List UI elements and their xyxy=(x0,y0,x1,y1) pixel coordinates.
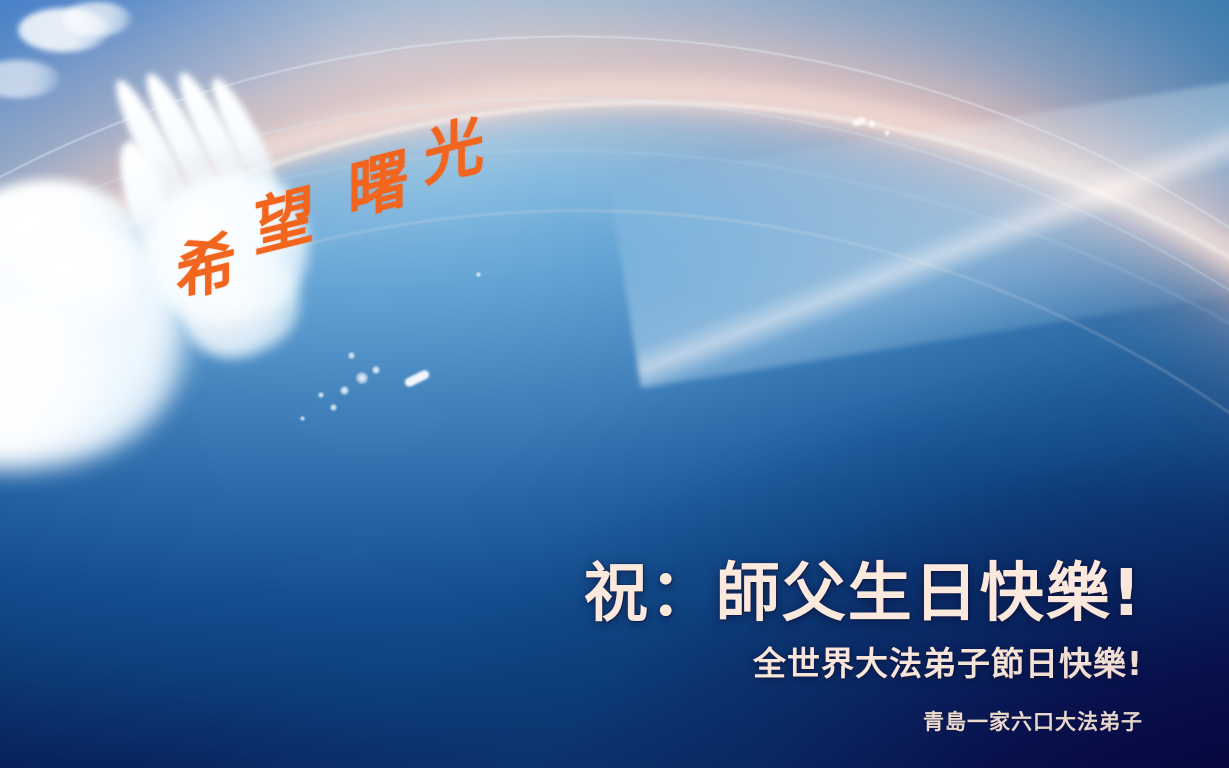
calligraphy-char-wang: 望 xyxy=(241,185,316,260)
calligraphy-char-xi: 希 xyxy=(163,231,238,306)
bokeh-7 xyxy=(300,416,305,421)
calligraphy-hope-dawn: 希 望 曙 光 xyxy=(160,140,500,320)
bokeh-1 xyxy=(340,386,349,395)
greeting-title-main: 祝：師父生日快樂! xyxy=(503,559,1143,631)
bokeh-3 xyxy=(372,366,380,374)
cloud-wisp-top-b xyxy=(62,2,132,36)
bokeh-6 xyxy=(348,352,355,359)
bokeh-5 xyxy=(318,392,324,398)
bokeh-8 xyxy=(868,120,876,128)
calligraphy-char-shu: 曙 xyxy=(335,149,410,224)
bokeh-9 xyxy=(884,130,890,136)
bokeh-2 xyxy=(356,372,368,384)
greeting-text-block: 祝：師父生日快樂! 全世界大法弟子節日快樂! 青島一家六口大法弟子 xyxy=(503,559,1143,736)
bokeh-4 xyxy=(330,404,337,411)
greeting-card-image: 希 望 曙 光 祝：師父生日快樂! 全世界大法弟子節日快樂! 青島一家六口大法弟… xyxy=(0,0,1229,768)
greeting-signature: 青島一家六口大法弟子 xyxy=(503,706,1143,736)
greeting-title-sub: 全世界大法弟子節日快樂! xyxy=(503,644,1143,684)
